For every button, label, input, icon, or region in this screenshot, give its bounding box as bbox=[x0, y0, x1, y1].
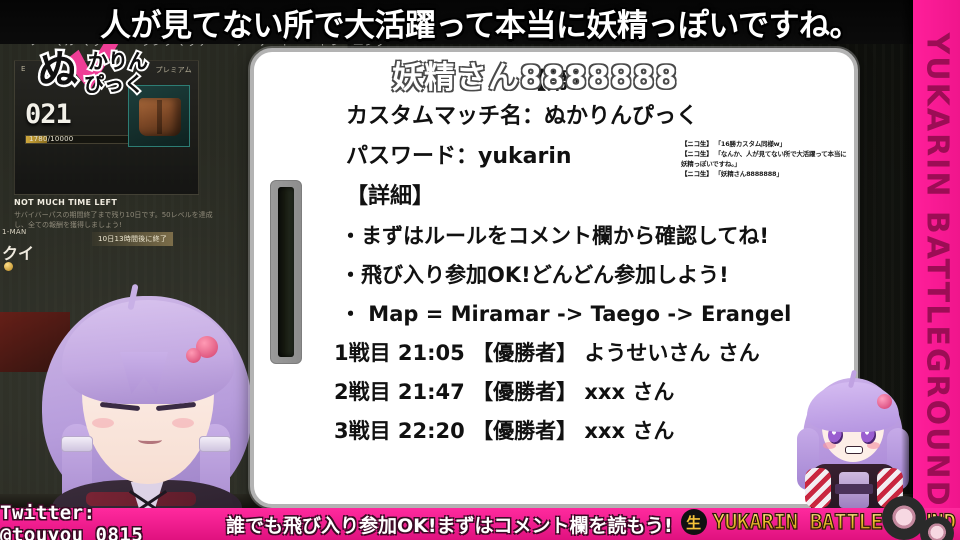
hud-mode-label: 1-MAN bbox=[2, 228, 27, 236]
survivor-pass-timer: 10日13時間後に終了 bbox=[92, 232, 173, 246]
survivor-pass-xp-text: 1780/10000 bbox=[29, 135, 73, 143]
brand-block: 生 YUKARIN BATTLEGROUND bbox=[673, 508, 960, 540]
comment-source: 【ニコ生】 bbox=[681, 170, 713, 178]
comment-text: 「なんか、人が見てない所で大活躍って本当に bbox=[715, 150, 847, 158]
notice-title: NOT MUCH TIME LEFT bbox=[14, 198, 214, 207]
panel-bullet-rules: ・まずはルールをコメント欄から確認してね! bbox=[276, 217, 832, 256]
panel-slider-handle[interactable] bbox=[270, 180, 302, 364]
channel-logo: ぬ ぬ かりん かりん ぴっく ぴっく bbox=[22, 38, 202, 100]
chibi-sleeve-left bbox=[805, 468, 831, 508]
panel-result-round-2: 2戦目 21:47 【優勝者】 xxx さん bbox=[276, 373, 832, 412]
logo-line1: かりん bbox=[88, 51, 148, 71]
panel-details-heading: 【詳細】 bbox=[276, 177, 832, 217]
panel-result-round-3: 3戦目 22:20 【優勝者】 xxx さん bbox=[276, 412, 832, 451]
jacket-icon bbox=[139, 98, 181, 136]
avatar-hair-ring-right bbox=[199, 436, 231, 452]
comment-feed-line: 【ニコ生】 「妖精さん8888888」 bbox=[681, 170, 853, 180]
comment-feed: 【ニコ生】 「16勝カスタム同様w」 【ニコ生】 「なんか、人が見てない所で大活… bbox=[681, 140, 853, 180]
avatar-mouth bbox=[138, 436, 162, 444]
twitter-handle-block[interactable]: Twitter: @touyou_0815 bbox=[0, 508, 226, 540]
nama-live-badge: 生 bbox=[681, 509, 707, 535]
notice-body: サバイバーパスの期間終了まで残り10日です。50レベルを達成し、全ての報酬を獲得… bbox=[14, 210, 214, 230]
survivor-pass-xp-bar: 1780/10000 bbox=[25, 135, 145, 144]
info-panel: 【第1 カスタムマッチ名：ぬかりんぴっく パスワード：yukarin 【詳細】 … bbox=[250, 48, 858, 508]
bottom-message-text: 誰でも飛び入り参加OK!まずはコメント欄を読もう! bbox=[226, 511, 673, 538]
avatar-blush-right bbox=[172, 418, 194, 428]
top-caption-bar: 人が見てない所で大活躍って本当に妖精っぽいですね。 bbox=[0, 0, 960, 44]
slider-track bbox=[278, 187, 294, 357]
avatar-hair-ring-left bbox=[61, 436, 93, 452]
logo-line2: ぴっく bbox=[84, 74, 144, 94]
vtuber-avatar bbox=[34, 286, 260, 518]
comment-source: 【ニコ生】 bbox=[681, 150, 713, 158]
bottom-message-block: 誰でも飛び入り参加OK!まずはコメント欄を読もう! bbox=[226, 508, 673, 540]
avatar-blush-left bbox=[92, 418, 114, 428]
chibi-belt bbox=[835, 484, 873, 494]
comment-text: 「妖精さん8888888」 bbox=[715, 170, 783, 178]
comment-text: 「16勝カスタム同様w」 bbox=[715, 140, 786, 148]
comment-feed-line: 【ニコ生】 「16勝カスタム同様w」 bbox=[681, 140, 853, 150]
coin-icon bbox=[4, 262, 13, 271]
panel-bullet-map: ・ Map = Miramar -> Taego -> Erangel bbox=[276, 295, 832, 334]
chibi-mouth bbox=[845, 446, 863, 454]
comment-source: 【ニコ生】 bbox=[681, 140, 713, 148]
overlay-comment: 妖精さん8888888 bbox=[392, 52, 678, 97]
vertical-banner-shadow bbox=[901, 0, 913, 540]
vertical-banner: YUKARIN BATTLEGROUND bbox=[913, 0, 960, 540]
bottom-bar: Twitter: @touyou_0815 誰でも飛び入り参加OK!まずはコメン… bbox=[0, 508, 960, 540]
survivor-pass-level: 021 bbox=[25, 99, 71, 130]
stream-screen: ノーマル マッチ ランクマッチ NEW アーケード トレーニング E プレミアム… bbox=[0, 0, 960, 540]
survivor-pass-notice: NOT MUCH TIME LEFT サバイバーパスの期間終了まで残り10日です… bbox=[14, 198, 214, 230]
info-panel-content: 【第1 カスタムマッチ名：ぬかりんぴっく パスワード：yukarin 【詳細】 … bbox=[254, 52, 854, 504]
logo-nu: ぬ bbox=[38, 50, 78, 90]
top-caption-text: 人が見てない所で大活躍って本当に妖精っぽいですね。 bbox=[100, 0, 860, 45]
hud-queue-label: クイ bbox=[2, 240, 34, 264]
avatar-hairpin bbox=[186, 336, 220, 362]
comment-feed-line: 妖精っぽいですね。」 bbox=[681, 160, 853, 170]
panel-bullet-join: ・飛び入り参加OK!どんどん参加しよう! bbox=[276, 256, 832, 295]
twitter-handle-text: Twitter: @touyou_0815 bbox=[0, 502, 226, 540]
panel-result-round-1: 1戦目 21:05 【優勝者】 ようせいさん さん bbox=[276, 334, 832, 373]
chibi-mascot bbox=[795, 372, 913, 512]
chibi-flower-icon bbox=[877, 394, 892, 409]
vertical-banner-text: YUKARIN BATTLEGROUND bbox=[919, 33, 954, 508]
comment-text: 妖精っぽいですね。」 bbox=[681, 160, 741, 168]
comment-feed-line: 【ニコ生】 「なんか、人が見てない所で大活躍って本当に bbox=[681, 150, 853, 160]
panel-custom-match-name: カスタムマッチ名：ぬかりんぴっく bbox=[276, 97, 832, 137]
